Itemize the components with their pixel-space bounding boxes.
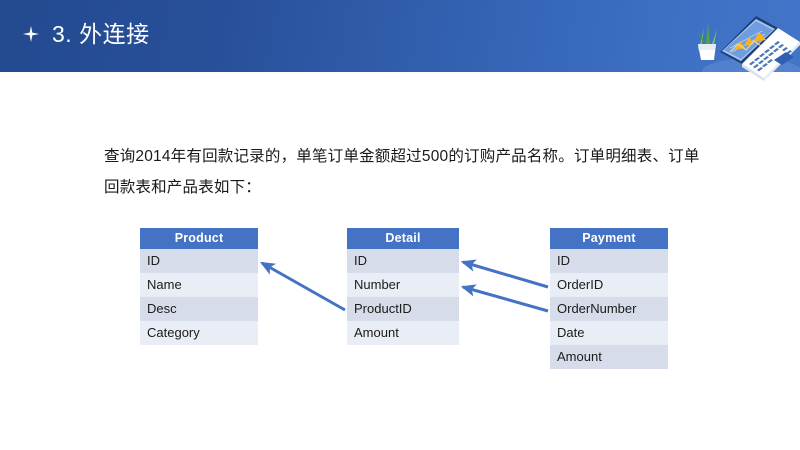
relation-arrows (0, 0, 800, 450)
arrow-payment-ordernumber-to-detail-number (463, 287, 548, 311)
slide-canvas: 3. 外连接 (0, 0, 800, 450)
arrow-detail-productid-to-product-id (262, 263, 345, 310)
arrow-payment-orderid-to-detail-id (463, 262, 548, 287)
er-diagram: Product ID Name Desc Category Detail ID … (0, 0, 800, 450)
